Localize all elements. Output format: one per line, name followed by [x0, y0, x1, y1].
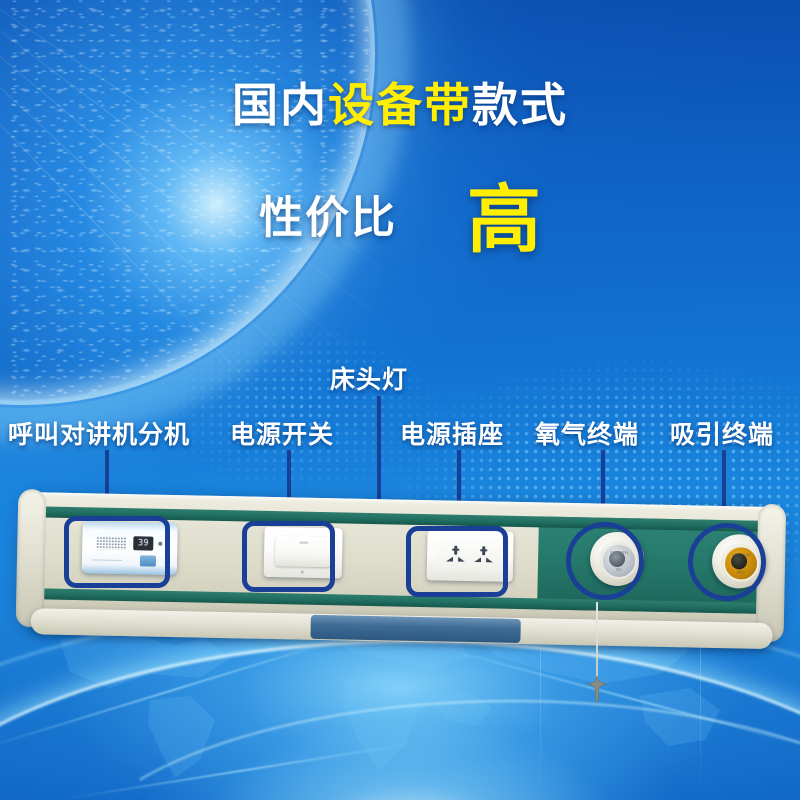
- panel-endcap-left: [16, 489, 47, 628]
- headline-part3: 款式: [472, 79, 568, 131]
- panel-rail-blue-segment: [310, 615, 520, 643]
- callout-label-power-socket: 电源插座: [400, 415, 504, 451]
- headline-part1: 国内: [232, 79, 328, 131]
- callout-label-oxygen-terminal: 氧气终端: [535, 415, 639, 451]
- highlight-power-socket: [406, 526, 508, 597]
- highlight-power-switch: [242, 521, 335, 592]
- callout-label-nurse-call-intercom: 呼叫对讲机分机: [8, 415, 190, 451]
- highlight-oxygen-terminal: [566, 522, 644, 600]
- subheadline-text: 性价比: [259, 194, 397, 243]
- subheadline-highlight: 高: [467, 178, 541, 261]
- subheadline: 性价比高: [0, 160, 800, 267]
- cord-hook-icon: [586, 676, 608, 704]
- highlight-nurse-call: [64, 516, 170, 588]
- callout-label-power-switch: 电源开关: [230, 415, 334, 451]
- headline-part2: 设备带: [328, 79, 472, 131]
- headline: 国内设备带款式: [0, 82, 800, 128]
- callout-label-bed-lamp: 床头灯: [330, 360, 408, 396]
- hanging-cord: [596, 602, 598, 680]
- highlight-suction-terminal: [688, 523, 766, 601]
- promo-banner: 国内设备带款式 性价比高 呼叫对讲机分机 电源开关 床头灯 电源插座 氧气终端 …: [0, 0, 800, 800]
- callout-label-suction-terminal: 吸引终端: [670, 415, 774, 451]
